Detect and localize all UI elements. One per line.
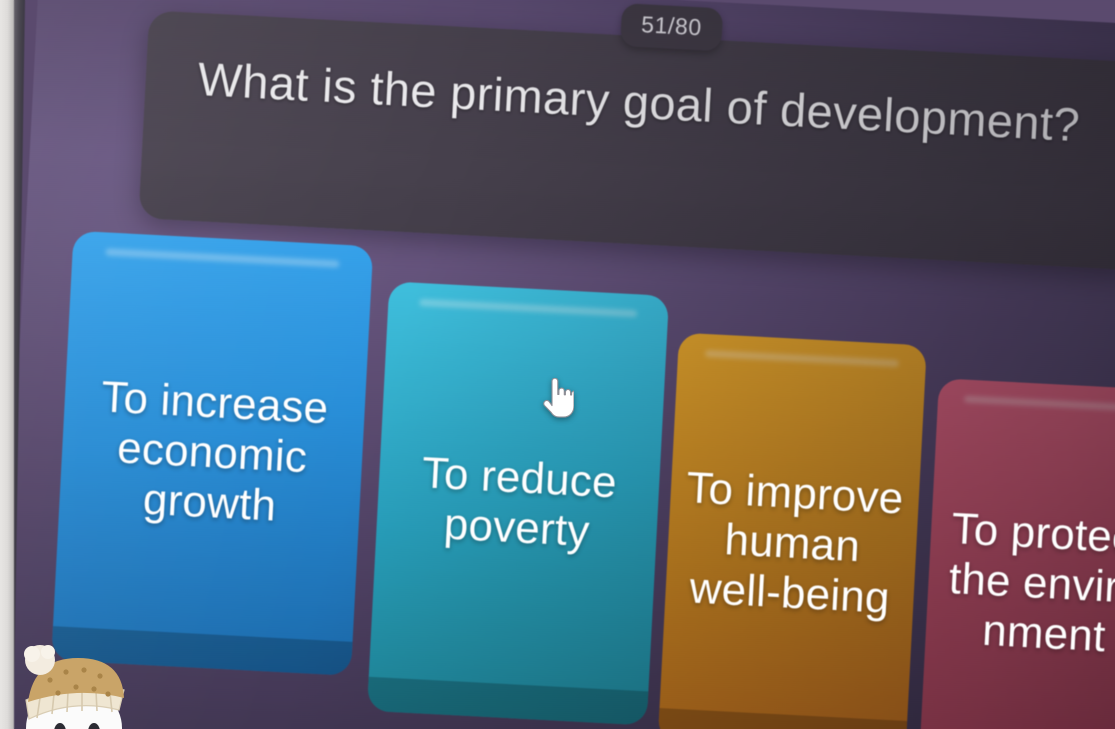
answer-option-a[interactable]: To increase economic growth <box>51 231 373 676</box>
answer-option-c-label: To improve human well-being <box>678 463 906 625</box>
question-counter-badge: 51/80 <box>620 3 723 51</box>
answer-options-grid: To increase economic growth To reduce po… <box>37 230 1115 729</box>
answer-option-a-label: To increase economic growth <box>72 371 352 535</box>
question-text: What is the primary goal of development? <box>196 49 1115 157</box>
answer-option-c[interactable]: To improve human well-being <box>658 333 927 729</box>
pointing-hand-cursor <box>540 378 574 420</box>
answer-option-b-label: To reduce poverty <box>390 447 647 560</box>
answer-option-d[interactable]: To protect the environment <box>918 378 1115 729</box>
answer-option-d-label: To protect the environment <box>939 504 1115 665</box>
answer-option-b[interactable]: To reduce poverty <box>367 281 669 725</box>
screen-photo: What is the primary goal of development?… <box>0 0 1115 729</box>
avatar-character <box>4 636 152 729</box>
quiz-screen-panel: What is the primary goal of development?… <box>0 0 1115 729</box>
screen-bezel-edge <box>0 0 14 729</box>
question-panel: What is the primary goal of development? <box>138 10 1115 270</box>
